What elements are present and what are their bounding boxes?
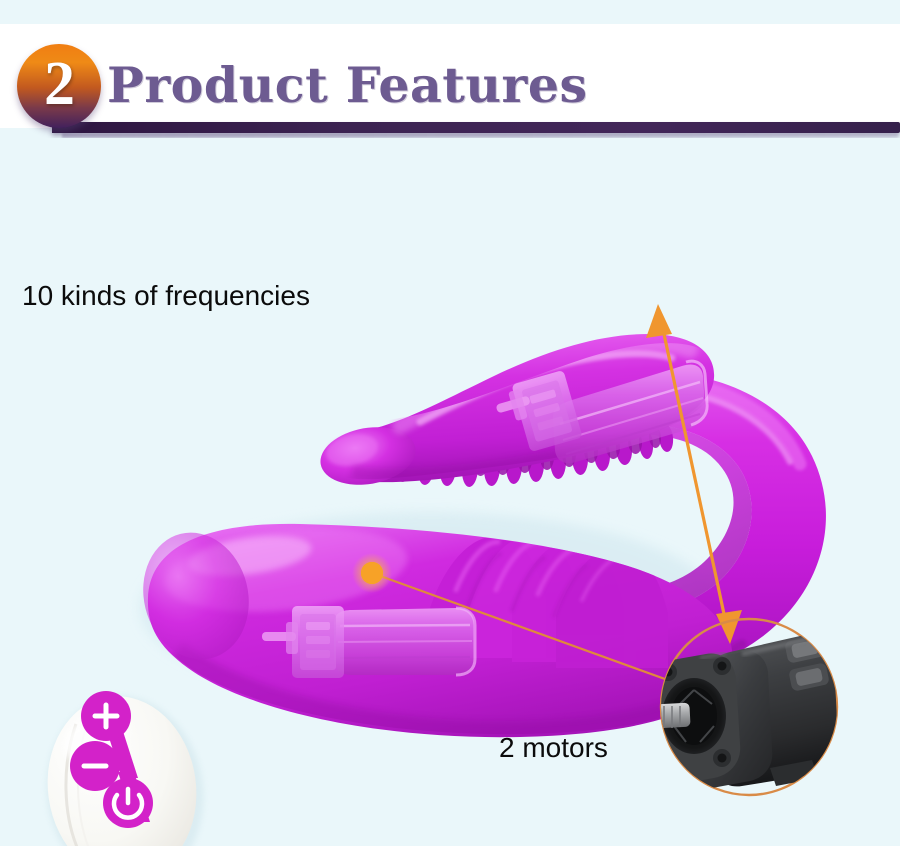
callout-label-motors: 2 motors bbox=[499, 731, 608, 765]
page-title: Product Features bbox=[107, 52, 588, 118]
callout-label-frequencies: 10 kinds of frequencies bbox=[22, 279, 310, 313]
section-number-text: 2 bbox=[17, 44, 101, 128]
lower-motor-assembly bbox=[262, 606, 475, 678]
section-number-badge: 2 bbox=[17, 44, 101, 128]
header-rule-bar bbox=[52, 122, 900, 133]
product-features-slide: 2 Product Features bbox=[0, 0, 900, 846]
product-illustration-stage bbox=[0, 138, 900, 846]
marker-dot bbox=[362, 563, 383, 584]
